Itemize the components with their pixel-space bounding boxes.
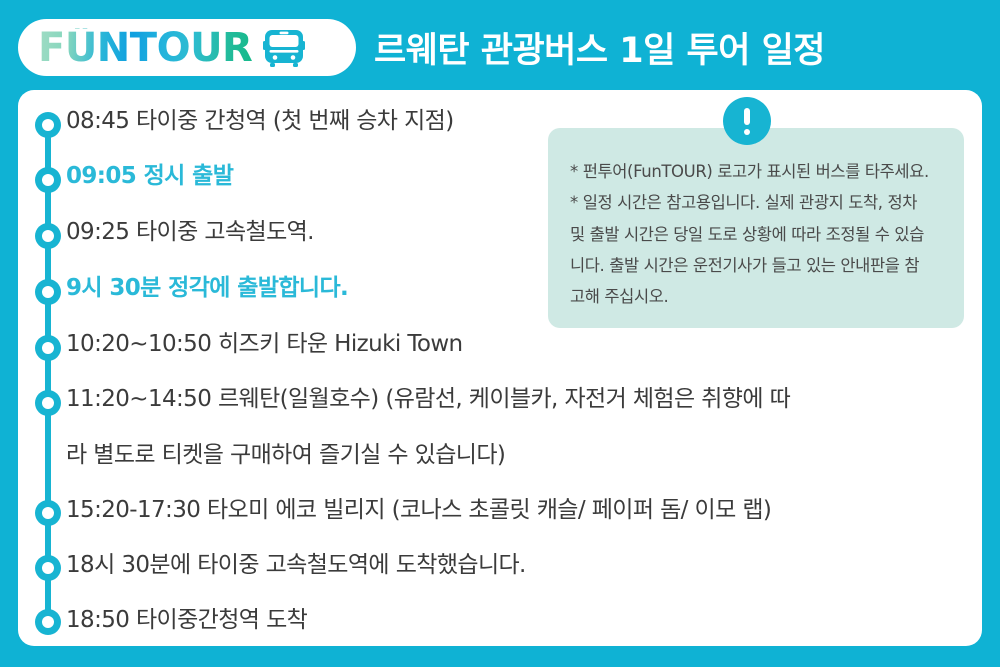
timeline-rail (45, 124, 51, 619)
timeline-item-7: 라 별도로 티켓을 구매하여 즐기실 수 있습니다) (66, 444, 505, 467)
notice-line-3: 및 출발 시간은 당일 도로 상황에 따라 조정될 수 있습 (570, 219, 942, 250)
brand-logo-pill[interactable]: FÜNTOUR (18, 19, 356, 76)
notice-line-4: 니다. 출발 시간은 운전기사가 들고 있는 안내판을 참 (570, 250, 942, 281)
timeline-dot (35, 609, 61, 635)
timeline-dot (35, 390, 61, 416)
notice-line-1: * 펀투어(FunTOUR) 로고가 표시된 버스를 타주세요. (570, 156, 942, 187)
brand-logo-text: FÜNTOUR (38, 28, 252, 68)
timeline-item-5: 10:20~10:50 히즈키 타운 Hizuki Town (66, 333, 463, 356)
exclamation-dot (744, 129, 750, 135)
notice-text: * 펀투어(FunTOUR) 로고가 표시된 버스를 타주세요.* 일정 시간은… (570, 156, 942, 313)
timeline-dot (35, 112, 61, 138)
timeline-dot (35, 223, 61, 249)
timeline-dot (35, 500, 61, 526)
notice-line-5: 고해 주십시오. (570, 281, 942, 312)
timeline-item-1: 08:45 타이중 간청역 (첫 번째 승차 지점) (66, 110, 454, 133)
timeline-dot (35, 555, 61, 581)
timeline-dot (35, 279, 61, 305)
timeline-item-10: 18:50 타이중간청역 도착 (66, 609, 307, 632)
timeline-item-2: 09:05 정시 출발 (66, 165, 233, 188)
page-title: 르웨탄 관광버스 1일 투어 일정 (374, 18, 825, 76)
exclamation-stem (744, 108, 750, 125)
notice-box: * 펀투어(FunTOUR) 로고가 표시된 버스를 타주세요.* 일정 시간은… (548, 128, 964, 328)
timeline-dot (35, 335, 61, 361)
exclamation-icon (723, 97, 771, 145)
timeline-dot (35, 167, 61, 193)
notice-line-2: * 일정 시간은 참고용입니다. 실제 관광지 도착, 정차 (570, 187, 942, 218)
timeline-item-4: 9시 30분 정각에 출발합니다. (66, 277, 348, 300)
timeline-item-6: 11:20~14:50 르웨탄(일월호수) (유람선, 케이블카, 자전거 체험… (66, 388, 790, 411)
timeline-item-9: 18시 30분에 타이중 고속철도역에 도착했습니다. (66, 554, 526, 577)
timeline-item-8: 15:20-17:30 타오미 에코 빌리지 (코나스 초콜릿 캐슬/ 페이퍼 … (66, 499, 771, 522)
bus-icon (262, 28, 306, 68)
page-header: FÜNTOUR 르웨탄 관광버스 1일 투어 일정 (0, 0, 1000, 90)
timeline-item-3: 09:25 타이중 고속철도역. (66, 221, 314, 244)
